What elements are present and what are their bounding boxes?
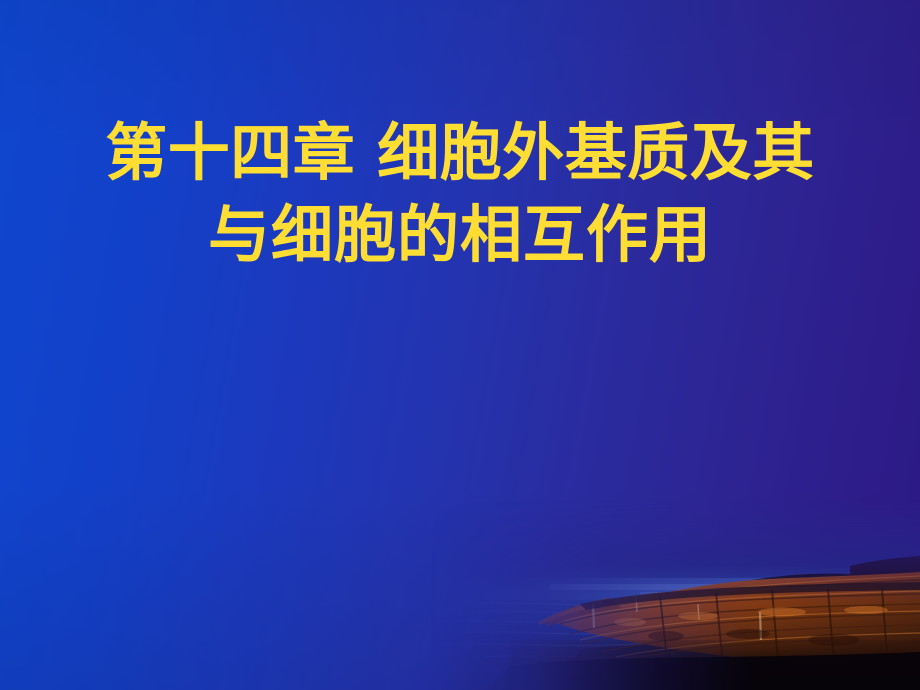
slide-title-line-1: 第十四章 细胞外基质及其 xyxy=(46,112,874,194)
shipwreck-photo xyxy=(430,500,920,690)
slide-title-line-2: 与细胞的相互作用 xyxy=(46,194,874,276)
presentation-slide: 第十四章 细胞外基质及其 与细胞的相互作用 xyxy=(0,0,920,690)
slide-title: 第十四章 细胞外基质及其 与细胞的相互作用 xyxy=(46,112,874,276)
